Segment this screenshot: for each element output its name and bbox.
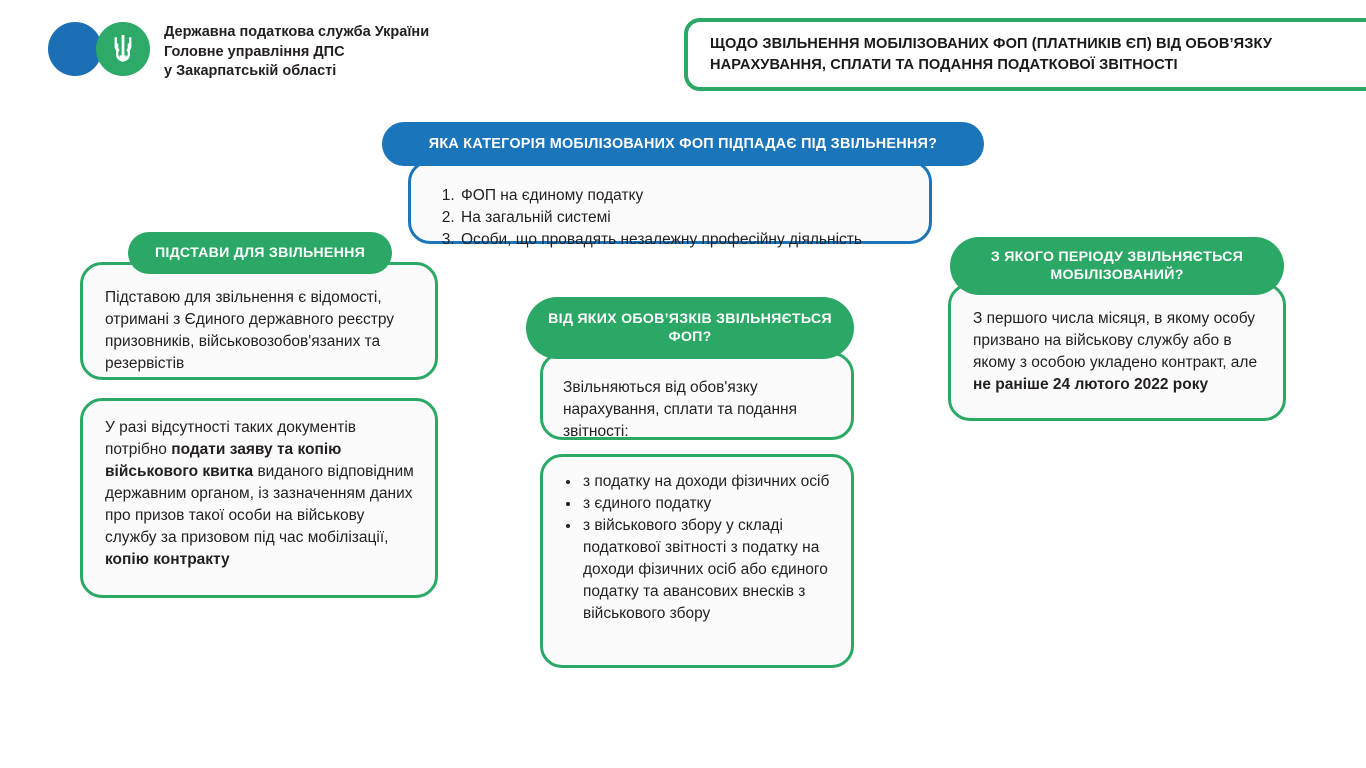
list-item: з військового збору у складі податкової … xyxy=(581,515,835,625)
list-item: з податку на доходи фізичних осіб xyxy=(581,471,835,493)
obligations-intro-text: Звільняються від обов'язку нарахування, … xyxy=(563,377,835,443)
title-banner: ЩОДО ЗВІЛЬНЕННЯ МОБІЛІЗОВАНИХ ФОП (ПЛАТН… xyxy=(684,18,1366,91)
list-item: На загальній системі xyxy=(459,207,911,229)
section-heading-grounds: ПІДСТАВИ ДЛЯ ЗВІЛЬНЕННЯ xyxy=(128,232,392,274)
infographic-canvas: Державна податкова служба України Головн… xyxy=(0,0,1366,768)
section-card-obligations-intro: Звільняються від обов'язку нарахування, … xyxy=(540,352,854,440)
logo-circle-green-icon xyxy=(96,22,150,76)
brand-logo xyxy=(48,22,154,76)
period-body-text: З першого числа місяця, в якому особу пр… xyxy=(973,308,1267,396)
grounds-body-text: Підставою для звільнення є відомості, от… xyxy=(105,287,419,375)
section-heading-period: З ЯКОГО ПЕРІОДУ ЗВІЛЬНЯЄТЬСЯ МОБІЛІЗОВАН… xyxy=(950,237,1284,295)
obligations-list: з податку на доходи фізичних осіб з єдин… xyxy=(559,471,835,625)
brand-line-1: Державна податкова служба України xyxy=(164,23,429,43)
brand-line-2: Головне управління ДПС xyxy=(164,43,429,62)
list-item: Особи, що провадять незалежну професійну… xyxy=(459,229,911,251)
brand-text: Державна податкова служба України Головн… xyxy=(164,22,429,81)
trident-icon xyxy=(110,33,136,65)
section-heading-obligations: ВІД ЯКИХ ОБОВ’ЯЗКІВ ЗВІЛЬНЯЄТЬСЯ ФОП? xyxy=(526,297,854,359)
section-card-obligations-list: з податку на доходи фізичних осіб з єдин… xyxy=(540,454,854,668)
logo-circle-blue-icon xyxy=(48,22,102,76)
section-heading-category: ЯКА КАТЕГОРІЯ МОБІЛІЗОВАНИХ ФОП ПІДПАДАЄ… xyxy=(382,122,984,166)
list-item: ФОП на єдиному податку xyxy=(459,185,911,207)
category-list: ФОП на єдиному податку На загальній сист… xyxy=(437,185,911,251)
brand-line-3: у Закарпатській області xyxy=(164,62,429,81)
list-item: з єдиного податку xyxy=(581,493,835,515)
grounds-documents-text: У разі відсутності таких документів потр… xyxy=(105,417,415,571)
section-card-category: ФОП на єдиному податку На загальній сист… xyxy=(408,160,932,244)
section-card-grounds: Підставою для звільнення є відомості, от… xyxy=(80,262,438,380)
brand-header: Державна податкова служба України Головн… xyxy=(48,22,429,81)
section-card-period: З першого числа місяця, в якому особу пр… xyxy=(948,283,1286,421)
section-card-grounds-documents: У разі відсутності таких документів потр… xyxy=(80,398,438,598)
title-banner-text: ЩОДО ЗВІЛЬНЕННЯ МОБІЛІЗОВАНИХ ФОП (ПЛАТН… xyxy=(710,34,1362,75)
